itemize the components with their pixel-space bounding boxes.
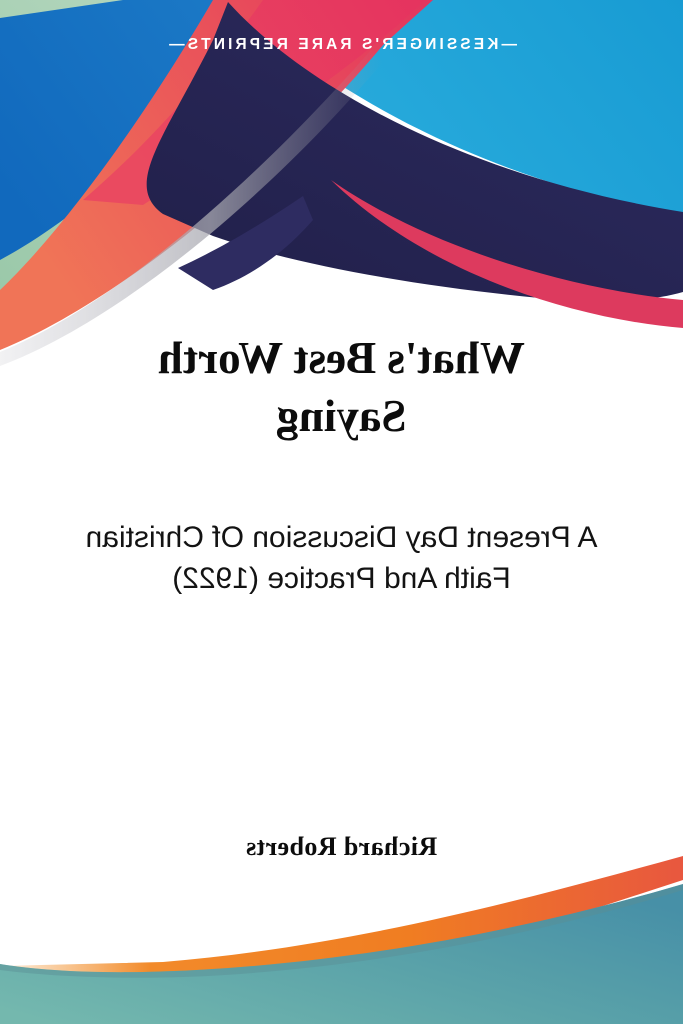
imprint-banner: —KESSINGER'S RARE REPRINTS— [0, 36, 683, 54]
cover-text-layer: —KESSINGER'S RARE REPRINTS— What's Best … [0, 0, 683, 1024]
book-author: Richard Roberts [90, 832, 593, 862]
book-cover: —KESSINGER'S RARE REPRINTS— What's Best … [0, 0, 683, 1024]
book-title: What's Best Worth Saying [90, 330, 593, 445]
book-subtitle: A Present Day Discussion Of Christian Fa… [70, 518, 613, 600]
